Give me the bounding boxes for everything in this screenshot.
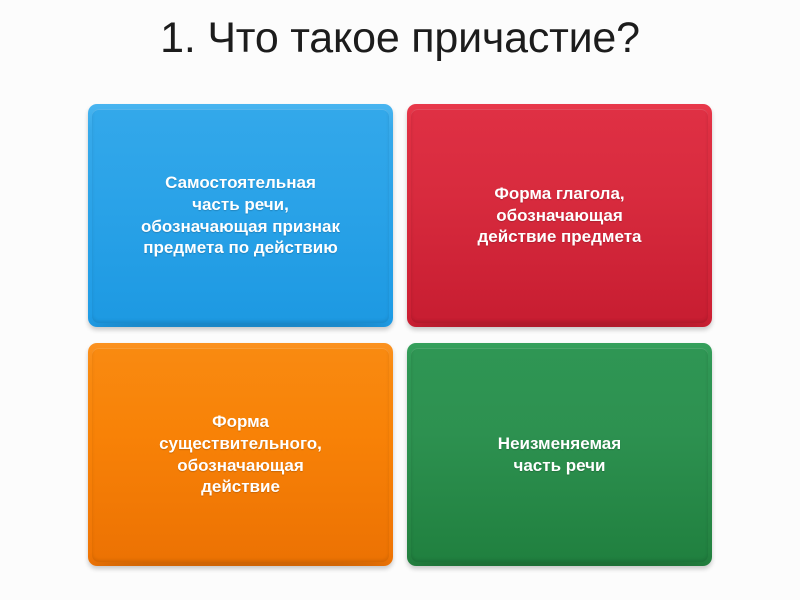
answer-option-4[interactable]: Неизменяемая часть речи xyxy=(407,343,712,566)
page-title: 1. Что такое причастие? xyxy=(0,14,800,63)
answer-option-3[interactable]: Форма существительного, обозначающая дей… xyxy=(88,343,393,566)
answer-option-2-label: Форма глагола, обозначающая действие пре… xyxy=(477,183,641,248)
answer-option-1[interactable]: Самостоятельная часть речи, обозначающая… xyxy=(88,104,393,327)
answer-option-4-label: Неизменяемая часть речи xyxy=(498,433,621,476)
answer-option-3-label: Форма существительного, обозначающая дей… xyxy=(159,411,322,497)
answer-option-2[interactable]: Форма глагола, обозначающая действие пре… xyxy=(407,104,712,327)
answer-options-grid: Самостоятельная часть речи, обозначающая… xyxy=(88,104,712,566)
answer-option-1-label: Самостоятельная часть речи, обозначающая… xyxy=(141,172,340,258)
quiz-slide: 1. Что такое причастие? Самостоятельная … xyxy=(0,0,800,600)
